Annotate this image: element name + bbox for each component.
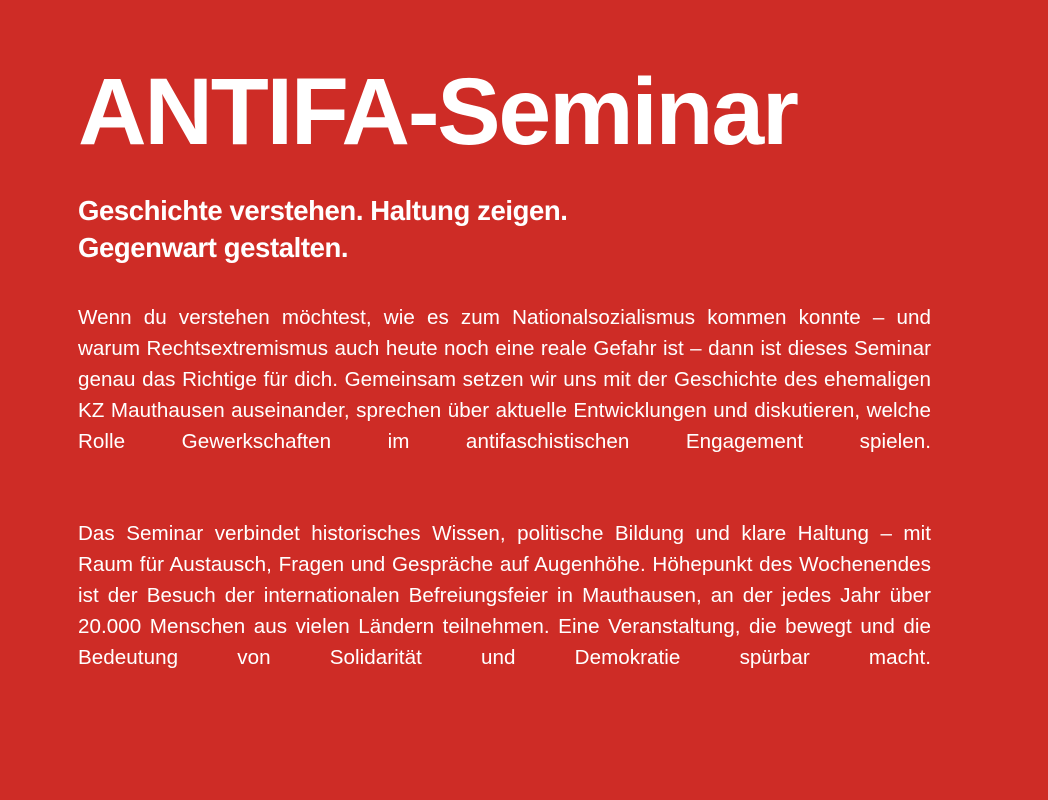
poster-subtitle: Geschichte verstehen. Haltung zeigen. Ge… [78,192,938,266]
subtitle-line-1: Geschichte verstehen. Haltung zeigen. [78,192,938,229]
body-paragraph-1: Wenn du verstehen möchtest, wie es zum N… [78,302,931,488]
page-title: ANTIFA-Seminar [78,62,797,162]
subtitle-line-2: Gegenwart gestalten. [78,229,938,266]
poster-body-copy: Wenn du verstehen möchtest, wie es zum N… [78,302,931,704]
body-paragraph-2: Das Seminar verbindet historisches Wisse… [78,518,931,704]
poster-canvas: ANTIFA-Seminar Geschichte verstehen. Hal… [0,0,1048,800]
